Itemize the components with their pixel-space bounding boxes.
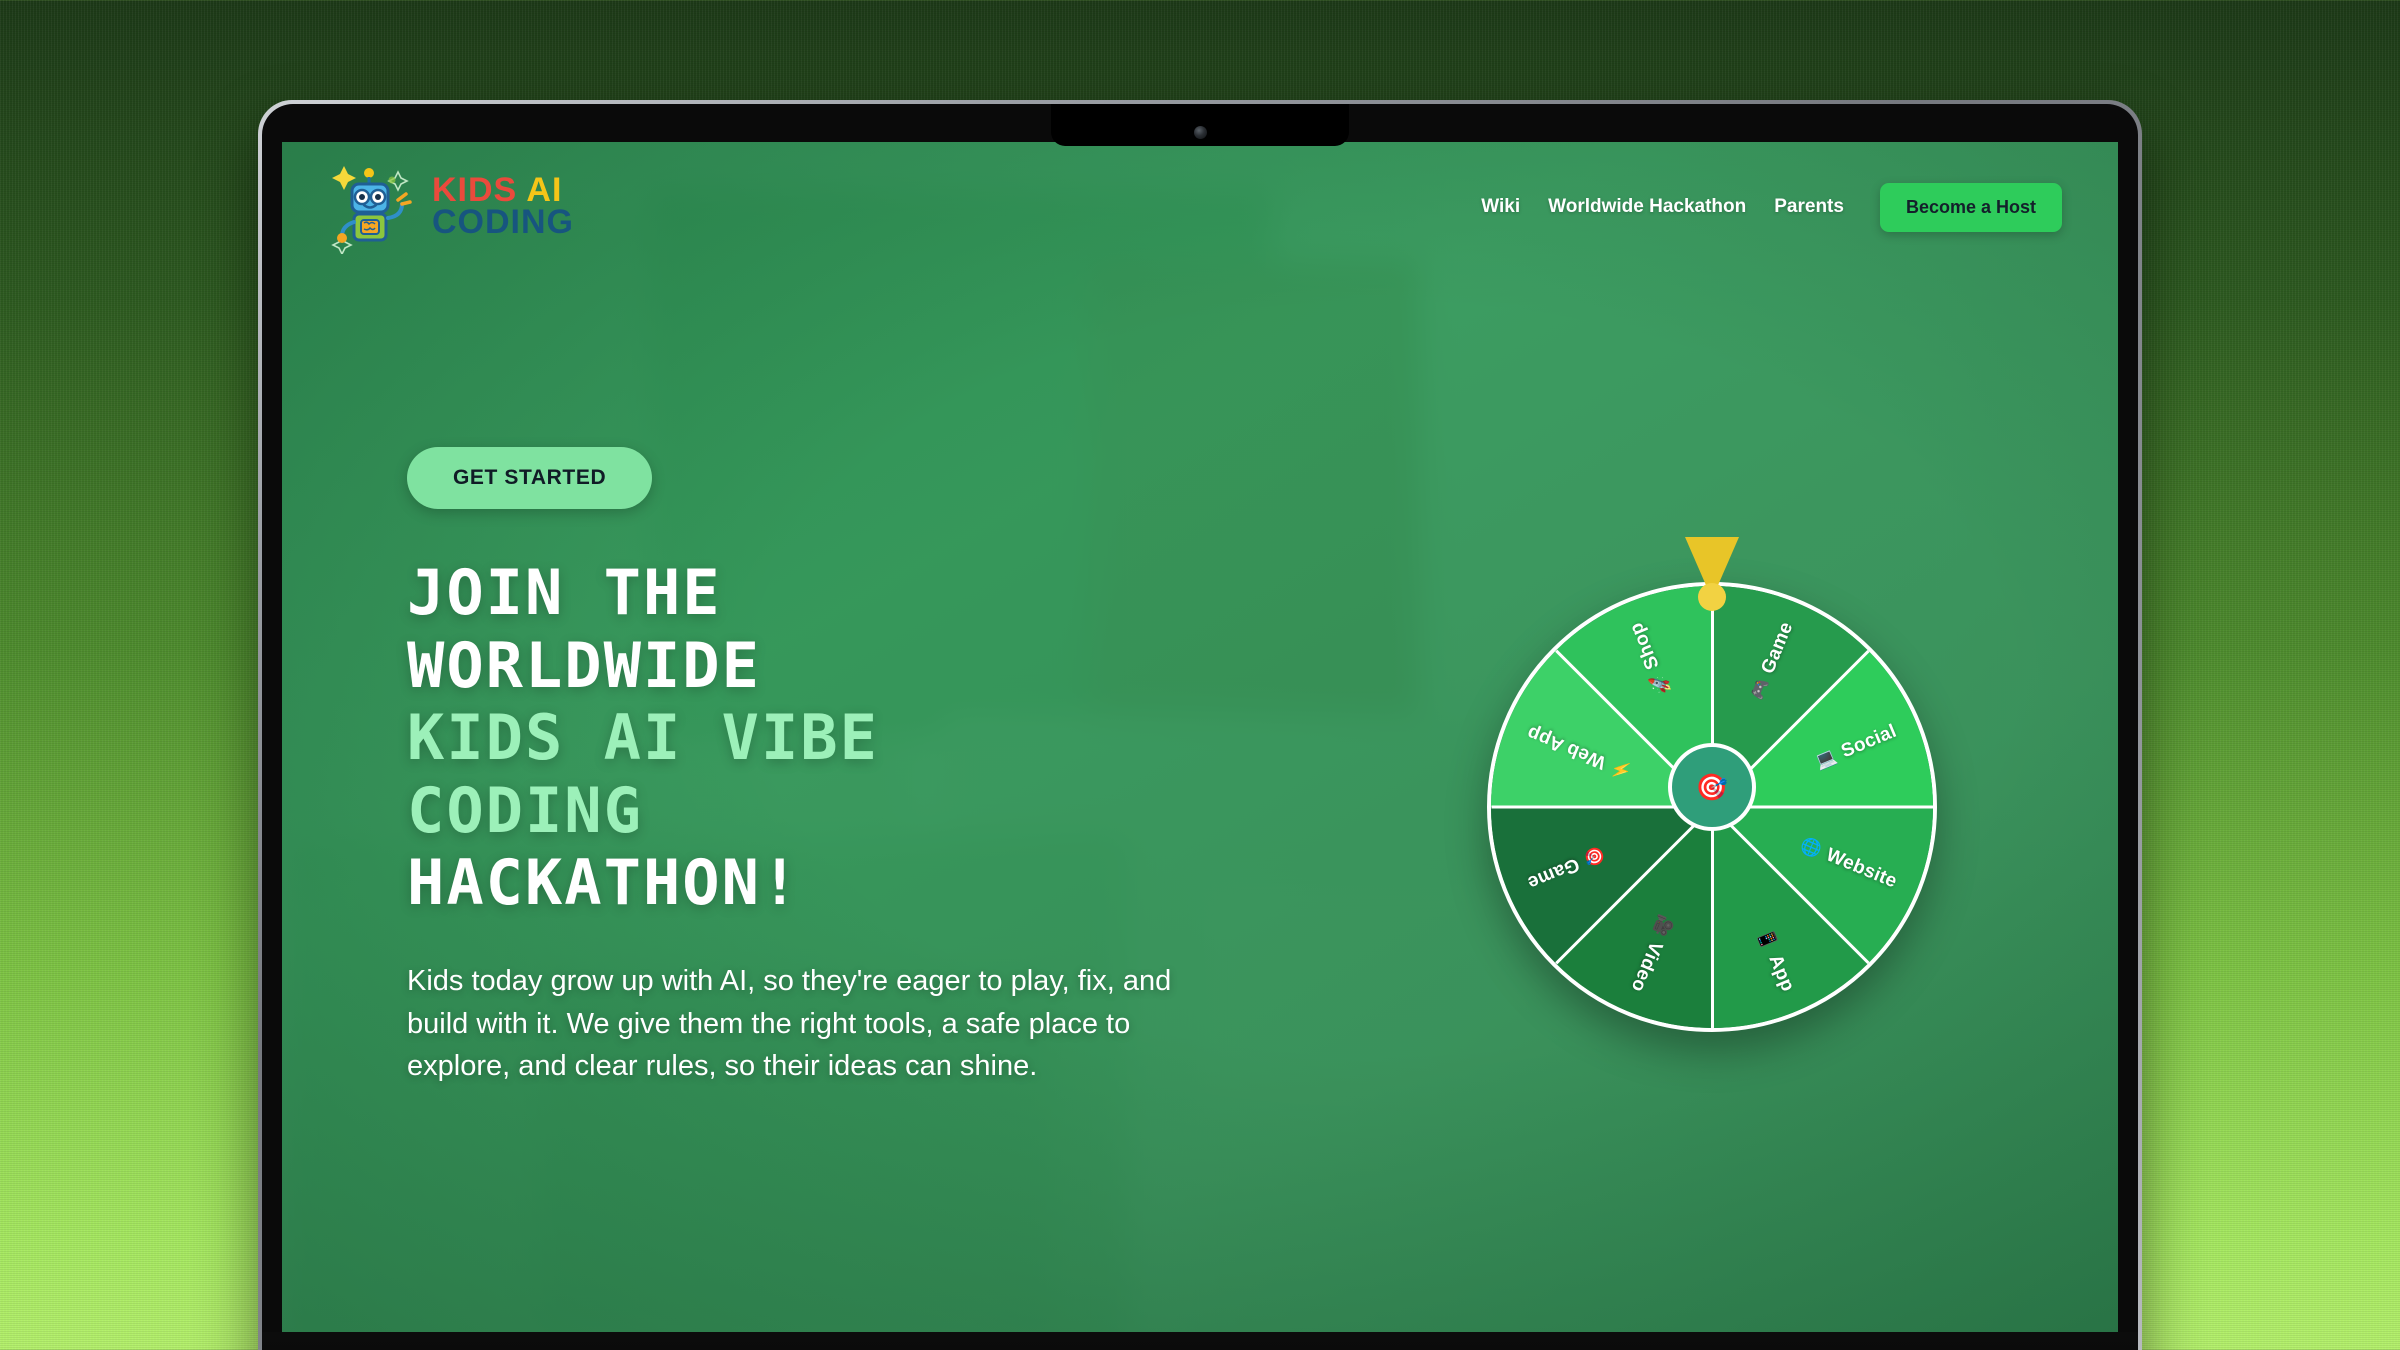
brand-logo[interactable]: KIDS AI CODING <box>330 160 574 254</box>
laptop-chin <box>262 1332 2138 1350</box>
wheel-center-hub[interactable]: 🎯 <box>1668 743 1756 831</box>
nav-link-parents[interactable]: Parents <box>1774 196 1844 218</box>
site-header: KIDS AI CODING Wiki Worldwide Hackathon … <box>282 142 2118 272</box>
robot-mascot-icon <box>330 160 416 254</box>
heading-line-2: WORLDWIDE <box>407 630 1287 703</box>
hero-heading: JOIN THE WORLDWIDE KIDS AI VIBE CODING H… <box>407 557 1287 920</box>
main-nav: Wiki Worldwide Hackathon Parents Become … <box>1481 183 2062 232</box>
nav-link-worldwide-hackathon[interactable]: Worldwide Hackathon <box>1548 196 1746 218</box>
spin-wheel-widget[interactable]: 🎮Game💻Social🌐Website📱App🎥Video🎯Game⚡Web … <box>1462 537 1962 1037</box>
heading-line-1: JOIN THE <box>407 557 1287 630</box>
website-page: KIDS AI CODING Wiki Worldwide Hackathon … <box>282 142 2118 1334</box>
nav-link-wiki[interactable]: Wiki <box>1481 196 1520 218</box>
hero-paragraph: Kids today grow up with AI, so they're e… <box>407 960 1217 1089</box>
laptop-screen: KIDS AI CODING Wiki Worldwide Hackathon … <box>282 142 2118 1334</box>
heading-line-3: KIDS AI VIBE <box>407 702 1287 775</box>
heading-line-5: HACKATHON! <box>407 847 1287 920</box>
hero-content: GET STARTED JOIN THE WORLDWIDE KIDS AI V… <box>407 447 1287 1088</box>
get-started-button[interactable]: GET STARTED <box>407 447 652 509</box>
logo-coding-text: CODING <box>432 207 574 239</box>
laptop-notch <box>1051 104 1349 146</box>
laptop-mockup: KIDS AI CODING Wiki Worldwide Hackathon … <box>258 100 2142 1350</box>
wheel-divider-4 <box>1711 807 1714 1028</box>
camera-icon <box>1194 126 1207 139</box>
logo-wordmark: KIDS AI CODING <box>432 175 574 239</box>
pointer-knob-icon <box>1698 583 1726 611</box>
become-a-host-button[interactable]: Become a Host <box>1880 183 2062 232</box>
heading-line-4: CODING <box>407 775 1287 848</box>
